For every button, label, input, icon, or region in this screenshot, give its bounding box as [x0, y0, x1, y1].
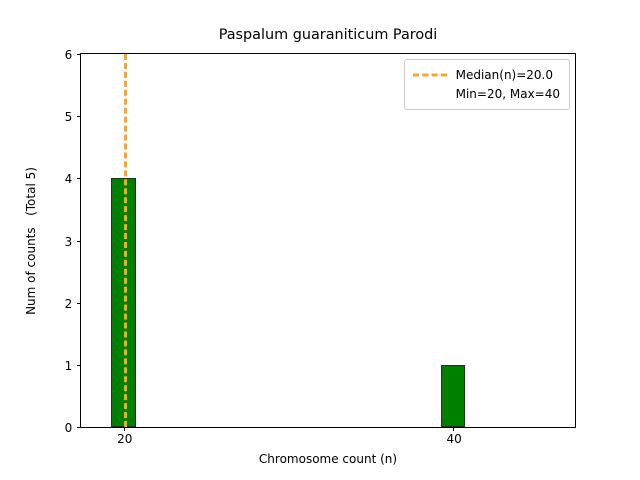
y-axis-tick-label: 0	[65, 422, 73, 434]
plot-axes: Median(n)=20.0 Min=20, Max=40 0123456204…	[80, 53, 576, 428]
dashed-line-icon	[413, 69, 447, 81]
y-axis-tick: 4	[77, 178, 81, 179]
y-axis-tick-label: 4	[65, 173, 73, 185]
x-axis-tick: 20	[124, 427, 125, 431]
y-axis-tick: 1	[77, 365, 81, 366]
median-line	[124, 54, 127, 427]
x-axis-tick: 40	[453, 427, 454, 431]
y-axis-label-container: Num of counts (Total 5)	[22, 53, 40, 428]
legend-label-median: Median(n)=20.0	[456, 68, 553, 82]
y-axis-tick: 6	[77, 54, 81, 55]
legend-blank-icon	[413, 88, 447, 100]
y-axis-tick-label: 1	[65, 360, 73, 372]
legend-box: Median(n)=20.0 Min=20, Max=40	[404, 59, 570, 110]
bar	[441, 365, 466, 427]
y-axis-label: Num of counts (Total 5)	[24, 167, 38, 315]
y-axis-tick-label: 3	[65, 236, 73, 248]
x-axis-tick-label: 20	[117, 433, 132, 445]
legend-entry-minmax: Min=20, Max=40	[413, 84, 560, 103]
y-axis-tick: 0	[77, 427, 81, 428]
x-axis-tick-label: 40	[447, 433, 462, 445]
y-axis-tick: 3	[77, 241, 81, 242]
figure-canvas: Paspalum guaraniticum Parodi Median(n)=2…	[0, 0, 640, 480]
chart-title: Paspalum guaraniticum Parodi	[80, 26, 576, 44]
y-axis-tick: 5	[77, 116, 81, 117]
y-axis-tick-label: 6	[65, 49, 73, 61]
legend-label-minmax: Min=20, Max=40	[456, 87, 560, 101]
y-axis-tick-label: 2	[65, 298, 73, 310]
y-axis-tick-label: 5	[65, 111, 73, 123]
y-axis-tick: 2	[77, 303, 81, 304]
legend-entry-median: Median(n)=20.0	[413, 65, 560, 84]
x-axis-label: Chromosome count (n)	[80, 452, 576, 466]
